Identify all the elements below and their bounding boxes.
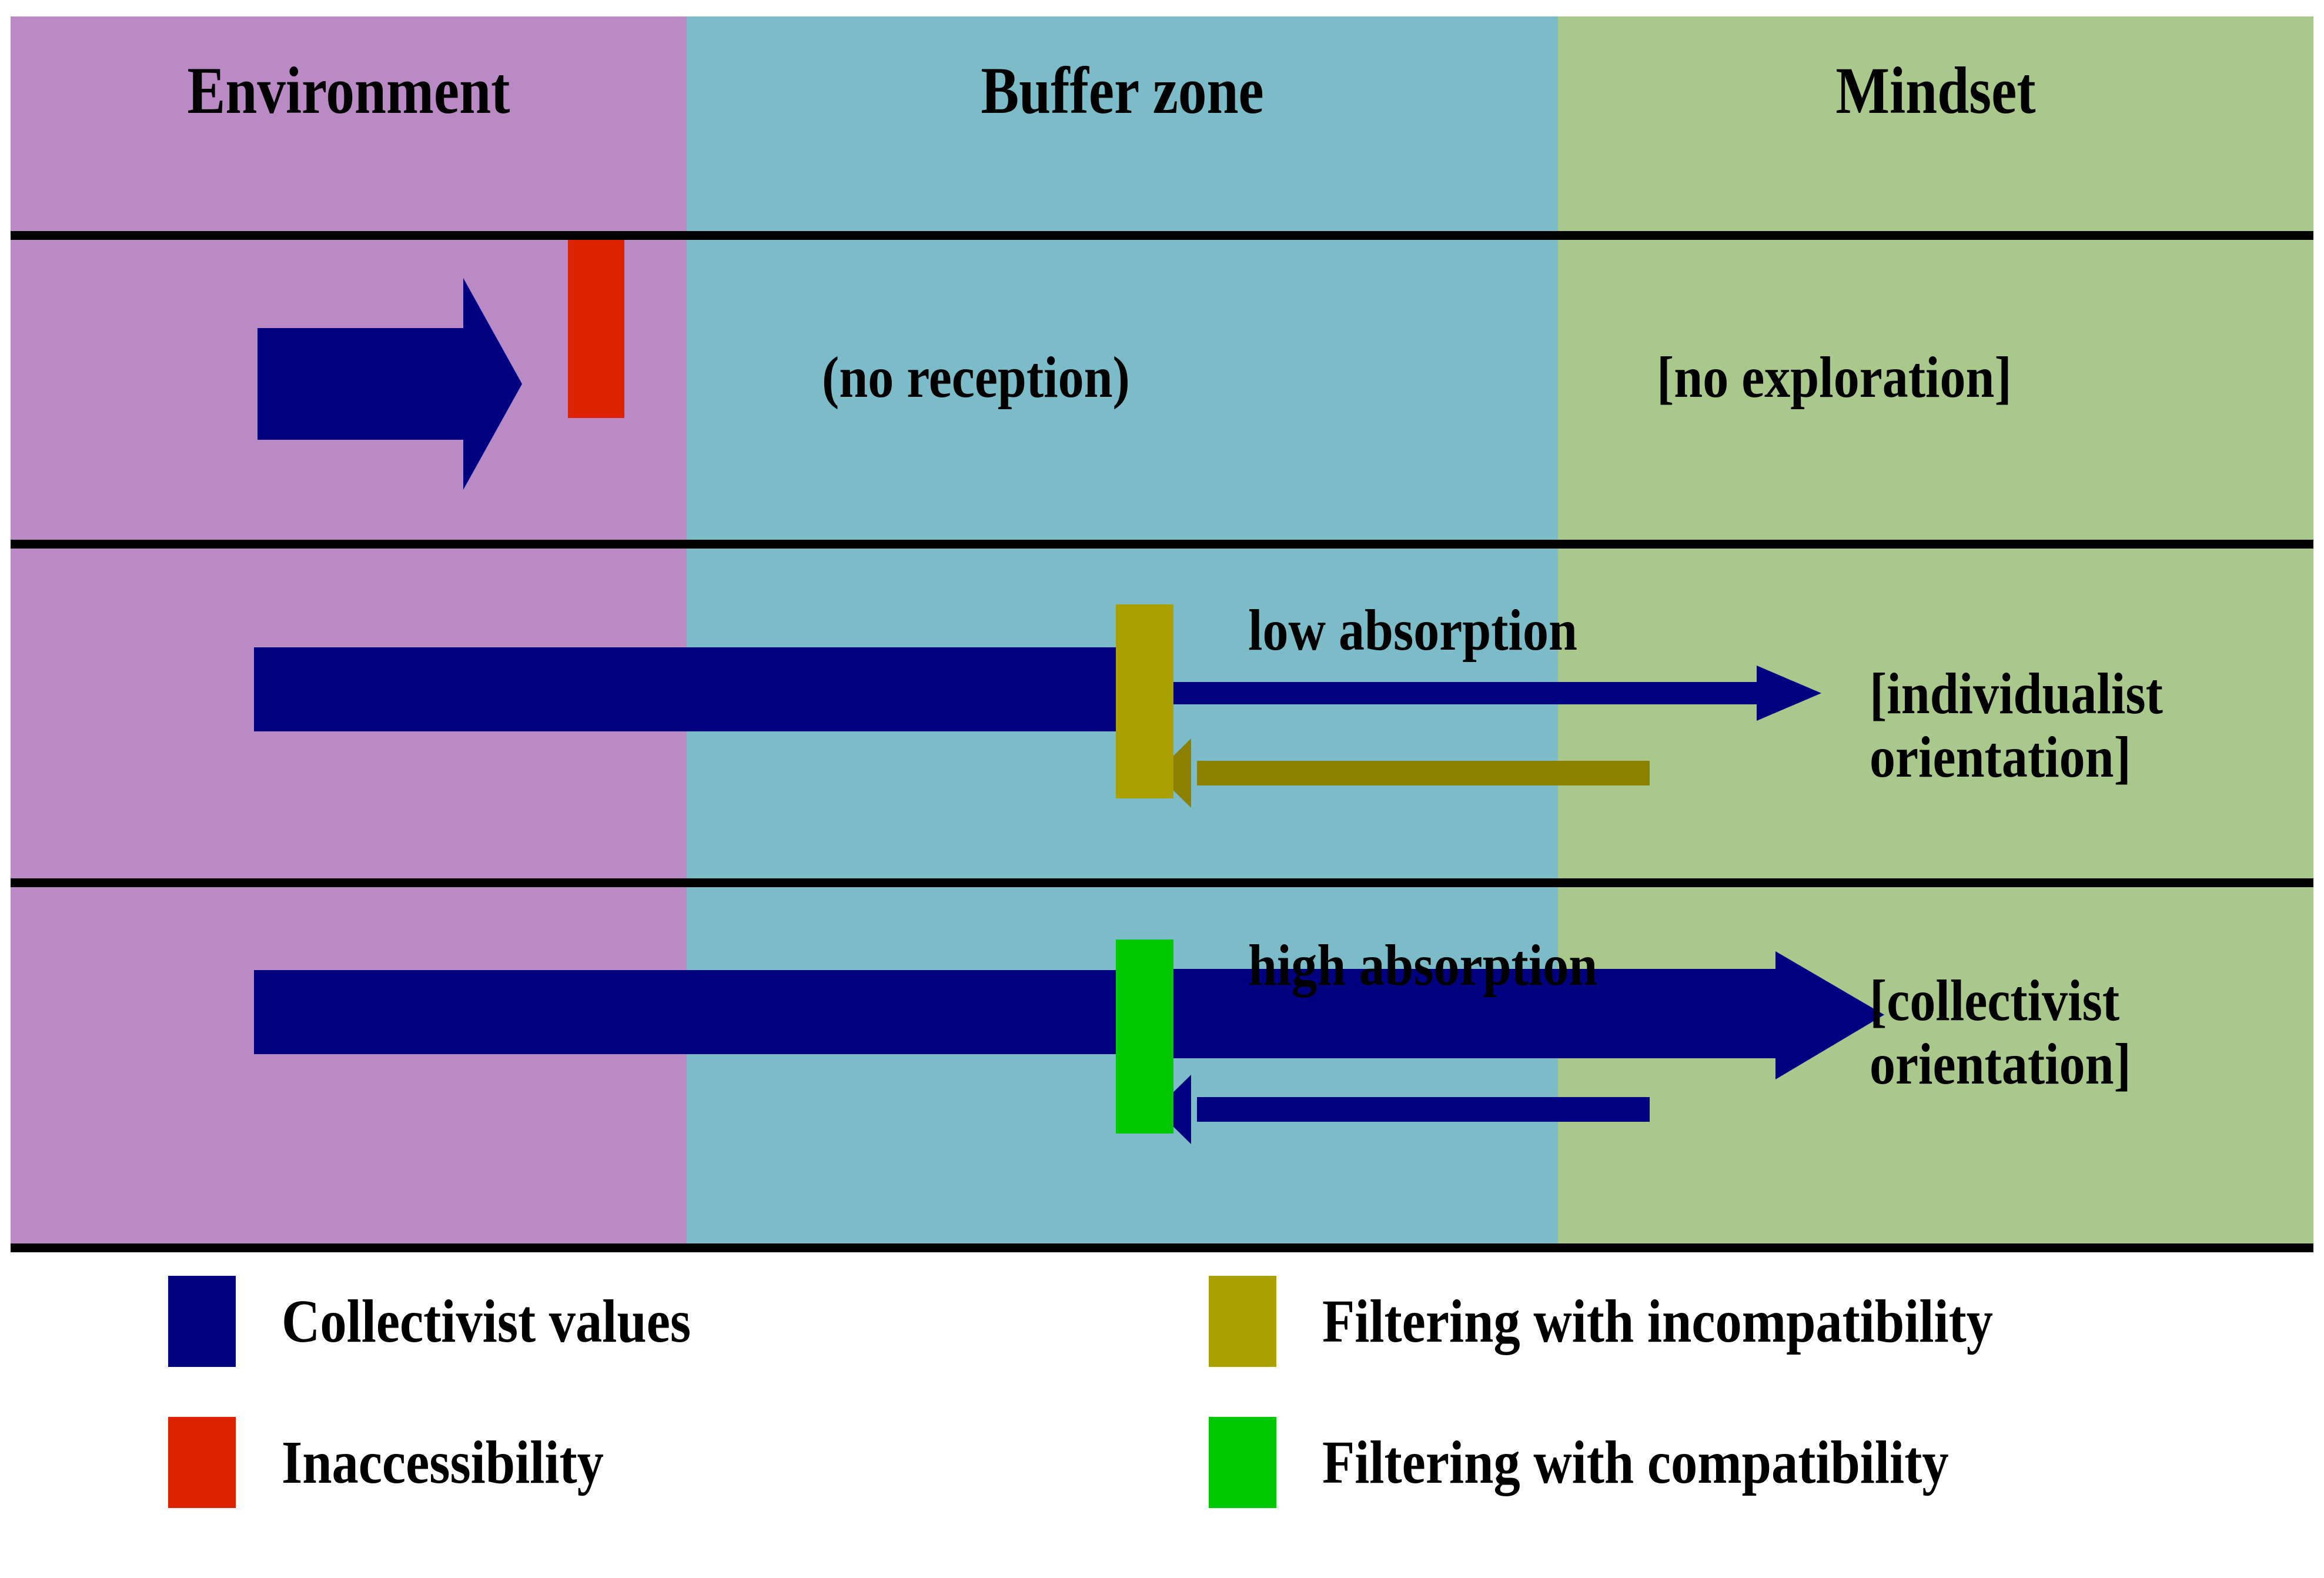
legend-label-filtering-with-compatibility: Filtering with compatibility [1322, 1427, 1949, 1497]
legend: Collectivist values Inaccessibility Filt… [11, 1270, 2313, 1564]
legend-item-collectivist-values: Collectivist values [168, 1276, 752, 1367]
column-header-mindset: Mindset [1611, 47, 2261, 135]
mindset-label-individualist-line2: orientation] [1870, 724, 2131, 790]
legend-item-filtering-with-compatibility: Filtering with compatibility [1209, 1417, 2042, 1508]
absorption-label-high: high absorption [1248, 934, 1869, 997]
column-header-buffer-zone: Buffer zone [748, 47, 1497, 135]
high-absorption-feedback-arrow [1156, 1069, 1650, 1145]
absorption-label-low: low absorption [1248, 599, 1869, 662]
column-background-environment [11, 16, 687, 1252]
mindset-label-individualist-orientation: [individualist orientation] [1870, 662, 2283, 789]
header-divider-rule [11, 231, 2313, 240]
mindset-label-no-exploration: [no exploration] [1657, 346, 2226, 409]
collectivist-values-bar-row2 [254, 647, 1159, 731]
diagram-panel: Environment Buffer zone Mindset (no rece… [11, 16, 2313, 1252]
legend-label-filtering-with-incompatibility: Filtering with incompatibility [1322, 1286, 1993, 1356]
legend-label-inaccessibility: Inaccessibility [282, 1427, 604, 1497]
row1-row2-divider-rule [11, 540, 2313, 549]
green-swatch [1209, 1417, 1276, 1508]
olive-swatch [1209, 1276, 1276, 1367]
navy-swatch [168, 1276, 236, 1367]
legend-item-inaccessibility: Inaccessibility [168, 1417, 652, 1508]
mindset-label-collectivist-line2: orientation] [1870, 1031, 2131, 1096]
mindset-label-collectivist-line1: [collectivist [1870, 968, 2119, 1033]
buffer-label-no-reception: (no reception) [822, 346, 1391, 409]
legend-label-collectivist-values: Collectivist values [282, 1286, 691, 1356]
legend-item-filtering-with-incompatibility: Filtering with incompatibility [1209, 1276, 2094, 1367]
filtering-with-compatibility-block [1116, 940, 1173, 1134]
low-absorption-feedback-arrow [1156, 733, 1650, 809]
inaccessibility-block [568, 233, 624, 418]
panel-bottom-rule [11, 1243, 2313, 1252]
mindset-label-individualist-line1: [individualist [1870, 661, 2163, 726]
low-absorption-outflow-arrow [1169, 657, 1839, 728]
mindset-label-collectivist-orientation: [collectivist orientation] [1870, 969, 2283, 1096]
collectivist-values-arrow-blocked [246, 252, 575, 516]
column-header-environment: Environment [58, 47, 640, 135]
row2-row3-divider-rule [11, 878, 2313, 887]
red-swatch [168, 1417, 236, 1508]
filtering-with-incompatibility-block [1116, 604, 1173, 798]
collectivist-values-bar-row3 [254, 970, 1159, 1054]
